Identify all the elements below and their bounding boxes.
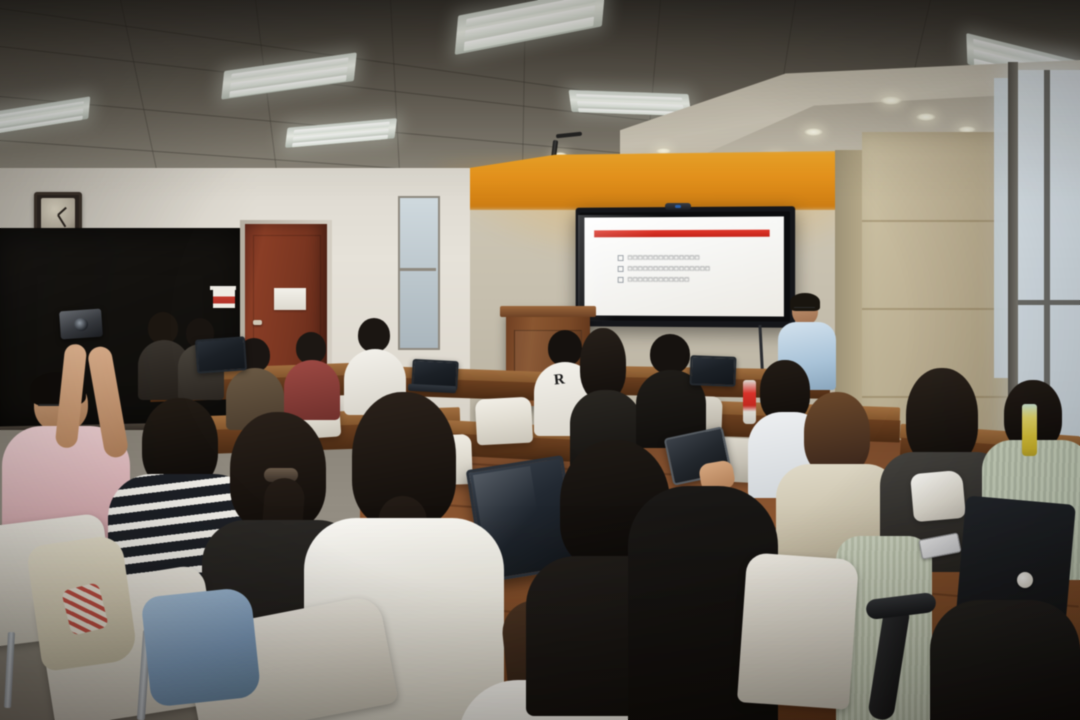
door-handle[interactable] xyxy=(253,320,262,325)
slide-bullet: □□□□□□□□□□□□ xyxy=(618,277,768,283)
presenter-glasses-icon xyxy=(794,307,815,313)
laptop[interactable] xyxy=(195,336,247,373)
shirt-print-letter: R xyxy=(553,371,566,389)
recessed-downlight xyxy=(880,96,902,105)
photo-scene: □□□□□□□□□□□□□□ □□□□□□□□□□□□□□□□ □□□□□□□□… xyxy=(0,0,1080,720)
recessed-downlight xyxy=(916,113,936,121)
bullet-marker-icon xyxy=(618,255,624,261)
attendee-head xyxy=(358,318,390,352)
attendee-head xyxy=(548,330,582,366)
window-mullion-horizontal xyxy=(1016,300,1080,305)
slide-content: □□□□□□□□□□□□□□ □□□□□□□□□□□□□□□□ □□□□□□□□… xyxy=(584,216,783,316)
white-plastic-bag xyxy=(910,470,966,522)
wall-sign-red xyxy=(213,287,235,308)
bullet-marker-icon xyxy=(618,277,624,283)
bullet-marker-icon xyxy=(618,266,624,272)
presentation-display[interactable]: □□□□□□□□□□□□□□ □□□□□□□□□□□□□□□□ □□□□□□□□… xyxy=(576,206,796,328)
attendee-torso xyxy=(284,360,340,420)
webcam-lens-icon xyxy=(675,205,681,208)
slide-bullet-text: □□□□□□□□□□□□□□ xyxy=(628,255,700,261)
beverage-bottle-yellow[interactable] xyxy=(1022,404,1037,456)
clock-minute-hand xyxy=(57,214,66,227)
slide-bullet-list: □□□□□□□□□□□□□□ □□□□□□□□□□□□□□□□ □□□□□□□□… xyxy=(618,254,768,287)
laptop[interactable] xyxy=(689,355,736,387)
chair[interactable] xyxy=(737,552,859,709)
lectern-top xyxy=(500,306,596,317)
chair[interactable] xyxy=(475,397,533,446)
recessed-downlight xyxy=(656,148,671,154)
side-window-bar xyxy=(398,268,436,271)
attendee-torso xyxy=(930,600,1080,720)
slide-bullet-text: □□□□□□□□□□□□ xyxy=(628,277,690,283)
attendee-head xyxy=(650,334,690,374)
slide-accent-bar xyxy=(594,229,769,237)
water-bottle-red-label[interactable] xyxy=(743,380,756,424)
clock-face xyxy=(41,198,75,230)
slide-bullet: □□□□□□□□□□□□□□ xyxy=(618,254,768,260)
bag-charm-icon xyxy=(1017,572,1033,588)
recessed-downlight xyxy=(804,128,823,136)
blue-jacket-on-chair xyxy=(141,587,262,708)
slide-bullet: □□□□□□□□□□□□□□□□ xyxy=(618,266,768,272)
slide-bullet-text: □□□□□□□□□□□□□□□□ xyxy=(628,266,711,272)
camera-lens-icon xyxy=(74,318,88,331)
door-notice-paper xyxy=(274,288,306,310)
side-window xyxy=(398,196,440,350)
